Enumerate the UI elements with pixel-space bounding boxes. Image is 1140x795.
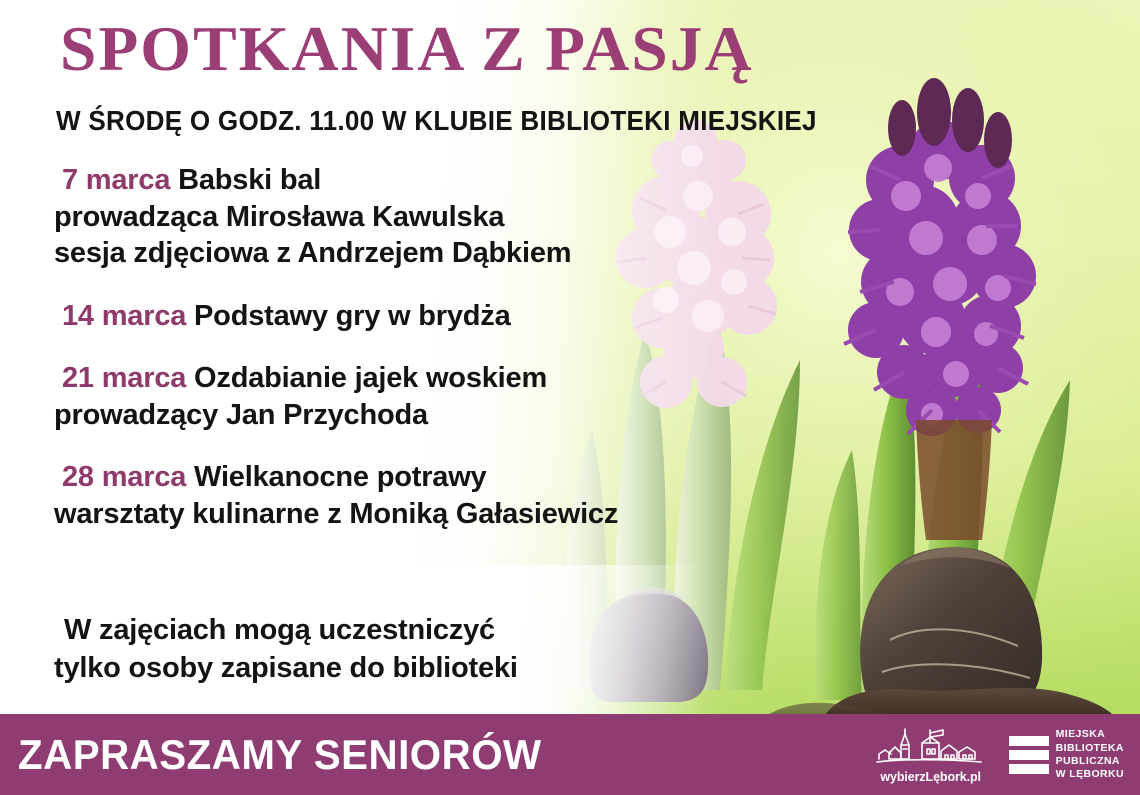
program-entry: 14 marca Podstawy gry w brydża [54,298,714,335]
program-entry-title: Podstawy gry w brydża [194,300,511,332]
library-logo-line: MIEJSKA [1056,728,1124,740]
program-entry-title: Babski bal [178,164,321,196]
program-entry-headline: 7 marca Babski bal [54,162,714,199]
library-logo[interactable]: MIEJSKA BIBLIOTEKA PUBLICZNA W LĘBORKU [1009,728,1124,781]
wybierz-lebork-label: wybierzLębork.pl [880,770,981,784]
participation-note-line: W zajęciach mogą uczestniczyć [54,612,714,650]
program-entry: 7 marca Babski bal prowadząca Mirosława … [54,162,714,272]
program-entry-date: 7 marca [62,164,170,196]
wybierz-lebork-logo[interactable]: wybierzLębork.pl [875,725,987,784]
library-logo-text: MIEJSKA BIBLIOTEKA PUBLICZNA W LĘBORKU [1056,728,1124,781]
program-entry-date: 21 marca [62,362,186,394]
program-entry-detail: warsztaty kulinarne z Moniką Gałasiewicz [54,496,714,533]
library-logo-line: PUBLICZNA [1056,755,1124,767]
participation-note: W zajęciach mogą uczestniczyć tylko osob… [54,612,714,687]
program-entry-title: Wielkanocne potrawy [194,461,486,493]
participation-note-line: tylko osoby zapisane do biblioteki [54,650,714,688]
library-logo-line: BIBLIOTEKA [1056,742,1124,754]
library-logo-line: W LĘBORKU [1056,768,1124,780]
program-entry-detail: sesja zdjęciowa z Andrzejem Dąbkiem [54,235,714,272]
book-stack-icon [1009,736,1049,774]
program-entry-title: Ozdabianie jajek woskiem [194,362,547,394]
program-entry-date: 28 marca [62,461,186,493]
page-title: SPOTKANIA Z PASJĄ [60,17,754,81]
page-subtitle: W ŚRODĘ O GODZ. 11.00 W KLUBIE BIBLIOTEK… [56,105,817,137]
program-entry: 21 marca Ozdabianie jajek woskiem prowad… [54,360,714,433]
program-list: 7 marca Babski bal prowadząca Mirosława … [54,162,714,558]
footer-call-to-action: ZAPRASZAMY SENIORÓW [18,731,542,779]
footer-bar: ZAPRASZAMY SENIORÓW [0,714,1140,795]
program-entry-headline: 28 marca Wielkanocne potrawy [54,459,714,496]
town-skyline-icon [875,725,987,769]
program-entry-headline: 21 marca Ozdabianie jajek woskiem [54,360,714,397]
footer-logos: wybierzLębork.pl MIEJSKA BIBLIOTEKA PUBL… [875,725,1140,784]
poster-canvas: SPOTKANIA Z PASJĄ W ŚRODĘ O GODZ. 11.00 … [0,0,1140,795]
program-entry-headline: 14 marca Podstawy gry w brydża [54,298,714,335]
program-entry-detail: prowadząca Mirosława Kawulska [54,199,714,236]
program-entry: 28 marca Wielkanocne potrawy warsztaty k… [54,459,714,532]
program-entry-detail: prowadzący Jan Przychoda [54,397,714,434]
program-entry-date: 14 marca [62,300,186,332]
